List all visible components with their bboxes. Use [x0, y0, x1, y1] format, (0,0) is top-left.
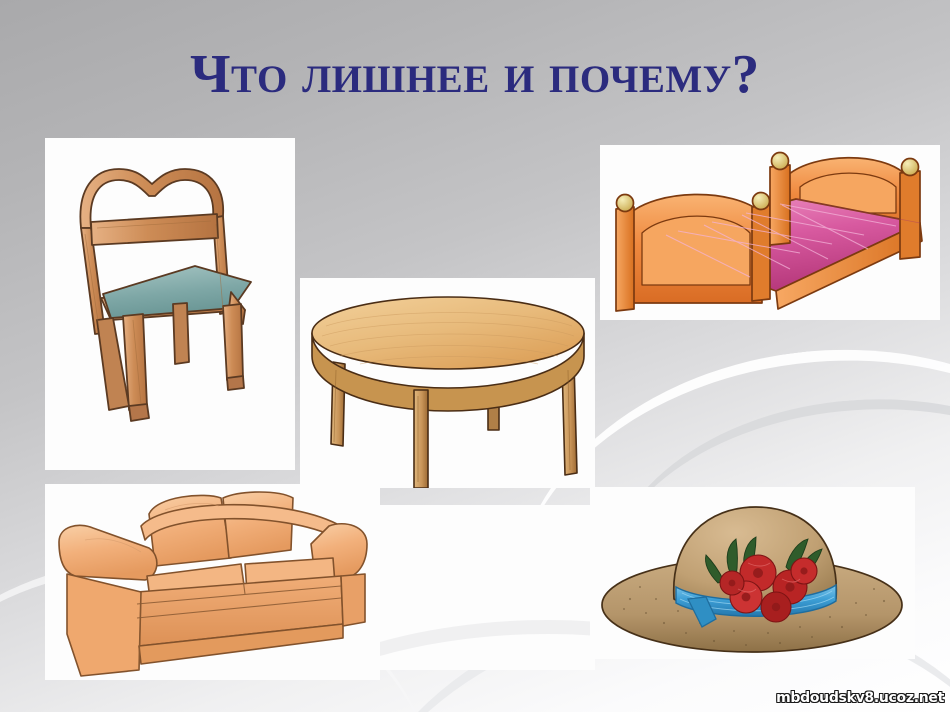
blank-illustration	[380, 505, 595, 670]
bed-illustration	[600, 145, 940, 320]
chair-illustration	[45, 138, 295, 470]
slide-canvas: Что лишнее и почему?	[0, 0, 950, 712]
image-panel-chair	[45, 138, 295, 470]
hat-illustration	[590, 487, 915, 659]
sofa-illustration	[45, 484, 380, 680]
watermark: mbdoudskv8.ucoz.net	[776, 690, 944, 706]
image-panel-table	[300, 278, 595, 488]
image-panel-blank	[380, 505, 595, 670]
table-illustration	[300, 278, 595, 488]
slide-title: Что лишнее и почему?	[0, 46, 950, 101]
image-panel-hat	[590, 487, 915, 659]
image-panel-sofa	[45, 484, 380, 680]
image-panel-bed	[600, 145, 940, 320]
